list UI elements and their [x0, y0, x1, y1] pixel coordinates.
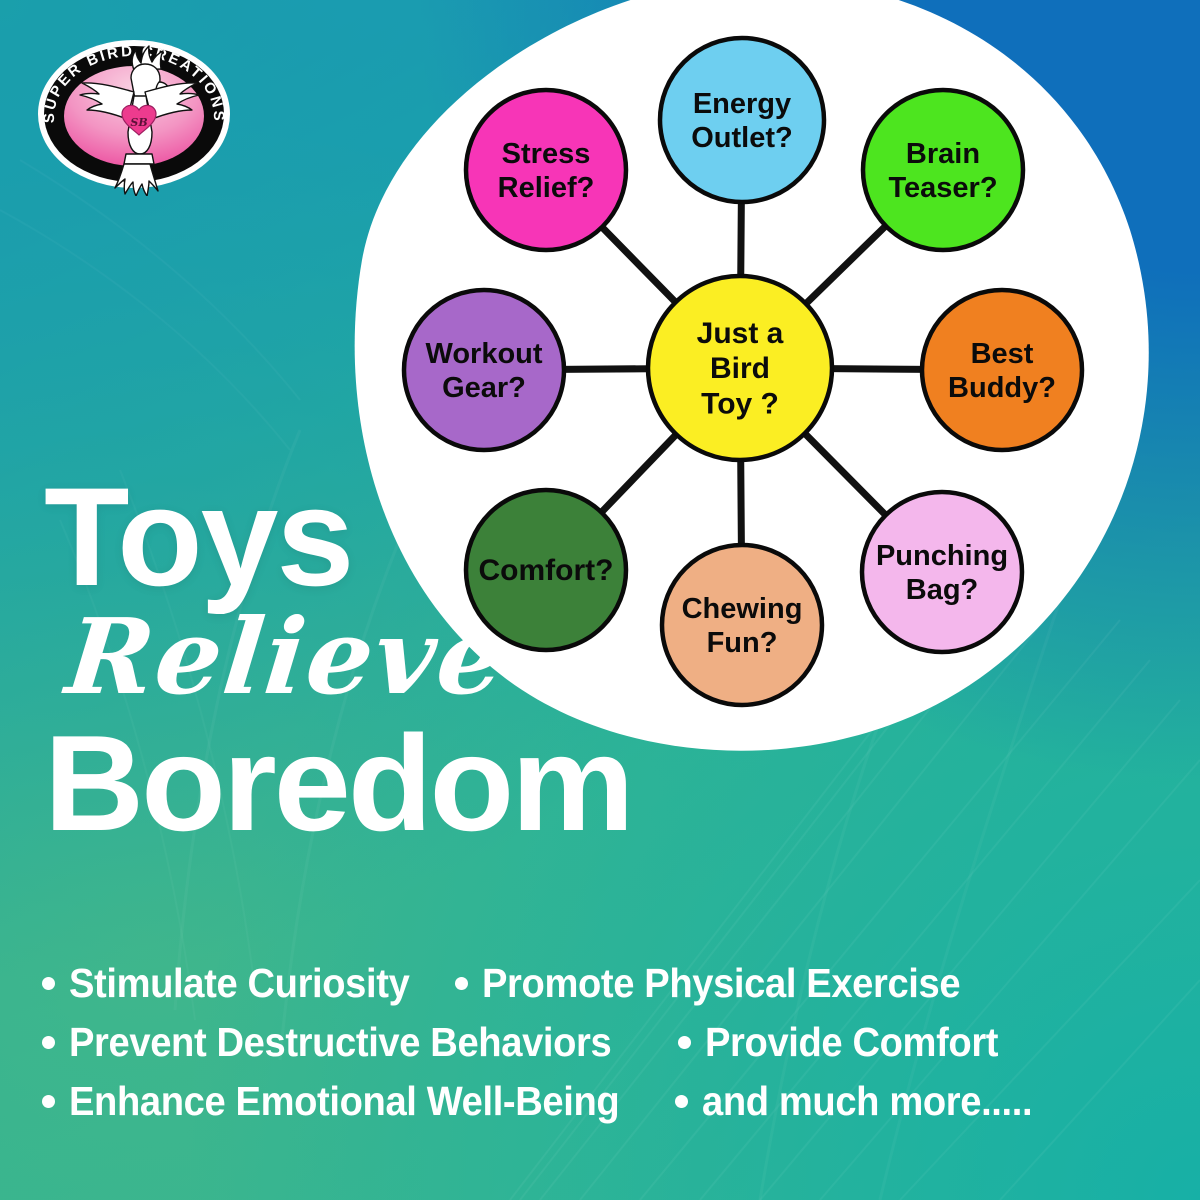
connector-punching-bag	[803, 432, 887, 517]
connector-energy-outlet	[741, 200, 742, 278]
benefit-label: Stimulate Curiosity	[69, 962, 409, 1005]
headline-block: Toys Relieve Boredom	[44, 470, 744, 851]
benefit-item: Promote Physical Exercise	[455, 962, 996, 1005]
benefit-item: and much more.....	[675, 1080, 1057, 1123]
benefit-item: Prevent Destructive Behaviors	[42, 1021, 652, 1064]
svg-text:SB: SB	[130, 116, 147, 129]
benefit-label: Provide Comfort	[705, 1021, 998, 1064]
benefit-label: Prevent Destructive Behaviors	[69, 1021, 611, 1064]
node-brain-teaser[interactable]: BrainTeaser?	[863, 90, 1023, 250]
bullet-dot-icon	[42, 1095, 55, 1108]
node-circle	[466, 90, 626, 250]
node-circle	[862, 492, 1022, 652]
benefits-row-2: Prevent Destructive Behaviors Provide Co…	[42, 1021, 1172, 1064]
benefits-row-3: Enhance Emotional Well-Being and much mo…	[42, 1080, 1172, 1123]
connector-brain-teaser	[804, 224, 887, 305]
benefit-label: Promote Physical Exercise	[482, 962, 960, 1005]
benefit-item: Stimulate Curiosity	[42, 962, 435, 1005]
node-center-just-a-bird-toy[interactable]: Just aBirdToy ?	[648, 276, 832, 460]
benefit-label: Enhance Emotional Well-Being	[69, 1080, 619, 1123]
node-workout-gear[interactable]: WorkoutGear?	[404, 290, 564, 450]
node-circle	[660, 38, 824, 202]
node-stress-relief[interactable]: StressRelief?	[466, 90, 626, 250]
bullet-dot-icon	[678, 1036, 691, 1049]
poster-canvas: EnergyOutlet?BrainTeaser?BestBuddy?Punch…	[0, 0, 1200, 1200]
bullet-dot-icon	[455, 977, 468, 990]
node-best-buddy[interactable]: BestBuddy?	[922, 290, 1082, 450]
node-circle	[404, 290, 564, 450]
super-bird-creations-logo[interactable]: SUPER BIRD CREATIONS SB	[30, 26, 238, 196]
node-circle	[863, 90, 1023, 250]
bullet-dot-icon	[42, 977, 55, 990]
connector-best-buddy	[830, 369, 924, 370]
benefit-label: and much more.....	[702, 1080, 1032, 1123]
benefit-item: Provide Comfort	[678, 1021, 1020, 1064]
benefit-item: Enhance Emotional Well-Being	[42, 1080, 661, 1123]
node-energy-outlet[interactable]: EnergyOutlet?	[660, 38, 824, 202]
connector-workout-gear	[562, 369, 650, 370]
node-circle	[922, 290, 1082, 450]
benefits-row-1: Stimulate Curiosity Promote Physical Exe…	[42, 962, 1172, 1005]
headline-line-boredom: Boredom	[44, 715, 758, 851]
headline-line-toys: Toys	[44, 470, 744, 603]
headline-line-relieve: Relieve	[62, 605, 755, 709]
bullet-dot-icon	[675, 1095, 688, 1108]
connector-stress-relief	[601, 226, 677, 304]
bullet-dot-icon	[42, 1036, 55, 1049]
node-punching-bag[interactable]: PunchingBag?	[862, 492, 1022, 652]
benefits-list: Stimulate Curiosity Promote Physical Exe…	[42, 962, 1172, 1139]
